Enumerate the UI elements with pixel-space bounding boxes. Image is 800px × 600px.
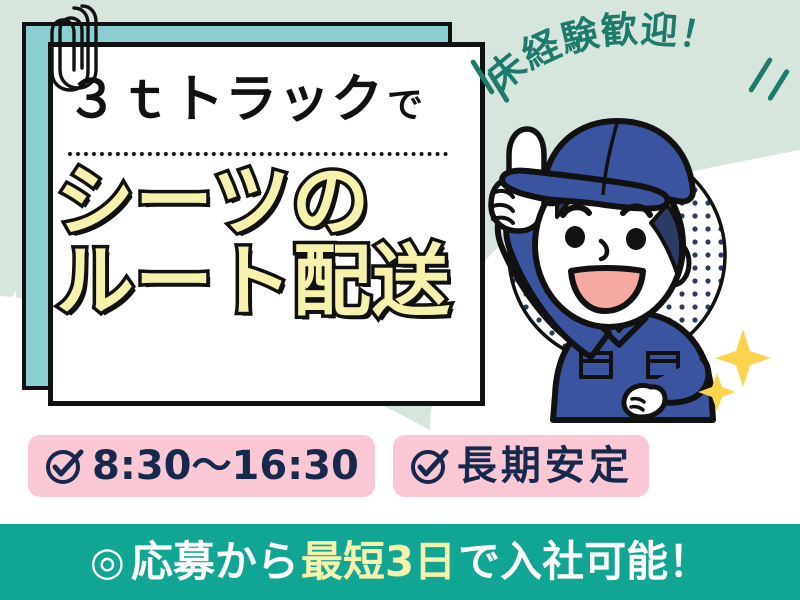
badge-work-hours-label: 8:30〜16:30: [92, 446, 359, 486]
check-circle-icon: [44, 445, 86, 487]
worker-eye-right: [626, 228, 646, 250]
bottom-bar-part2: で入社可能！: [458, 541, 710, 583]
bottom-bar: ◎ 応募から 最短3日 で入社可能！: [0, 524, 800, 600]
bottom-bar-mark: ◎: [90, 542, 125, 582]
badge-row: 8:30〜16:30 長期安定: [0, 432, 800, 500]
bottom-bar-highlight: 最短3日: [301, 541, 456, 583]
worker-eye-left: [565, 226, 585, 248]
catch-copy-text: 未経験歓迎！: [479, 8, 722, 100]
bottom-bar-part1: 応募から: [131, 541, 299, 583]
badge-long-term-label: 長期安定: [457, 446, 633, 486]
sparkle-large-icon: [715, 329, 771, 387]
lead-main-text: ３ｔトラック: [66, 75, 384, 127]
svg-text:未経験歓迎！: 未経験歓迎！: [479, 8, 722, 100]
worker-illustration: [405, 95, 800, 425]
banner-root: ３ｔトラック で シーツの ルート配送 未経験歓迎！: [0, 0, 800, 600]
badge-work-hours[interactable]: 8:30〜16:30: [28, 435, 375, 497]
dotted-divider: [68, 148, 448, 156]
check-circle-icon: [409, 445, 451, 487]
badge-long-term[interactable]: 長期安定: [393, 435, 649, 497]
